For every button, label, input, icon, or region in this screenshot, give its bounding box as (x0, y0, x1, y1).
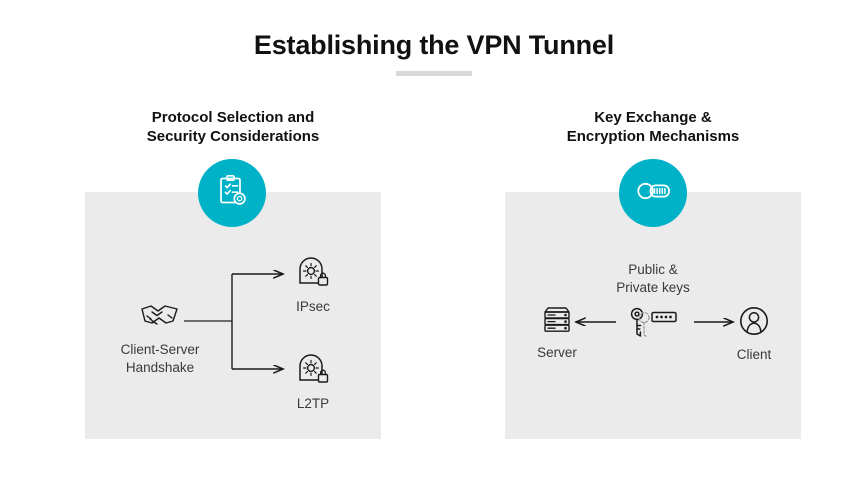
keys-caption: Public & Private keys (553, 261, 753, 297)
node-handshake: Client-Server Handshake (95, 300, 225, 377)
node-client: Client (722, 305, 786, 364)
page-title: Establishing the VPN Tunnel (0, 30, 868, 61)
user-circle-icon (738, 305, 770, 342)
section-heading-key-exchange: Key Exchange & Encryption Mechanisms (505, 108, 801, 146)
node-server-label: Server (537, 344, 577, 362)
clipboard-certificate-icon (214, 173, 250, 214)
secure-tunnel-lock-icon (296, 352, 330, 391)
title-underline-rule (396, 71, 472, 76)
section-heading-protocol-selection: Protocol Selection and Security Consider… (85, 108, 381, 146)
secure-tunnel-lock-icon (296, 255, 330, 294)
handshake-icon (138, 300, 182, 337)
keys-password-icon (626, 305, 682, 344)
key-icon (633, 171, 673, 216)
node-server: Server (524, 305, 590, 362)
badge-protocol-selection (198, 159, 266, 227)
node-client-label: Client (737, 346, 772, 364)
node-handshake-label: Client-Server Handshake (121, 341, 200, 377)
node-keys (620, 305, 688, 348)
node-ipsec: IPsec (283, 255, 343, 316)
node-l2tp-label: L2TP (297, 395, 329, 413)
server-rack-icon (540, 305, 574, 340)
node-l2tp: L2TP (283, 352, 343, 413)
badge-key-exchange (619, 159, 687, 227)
node-ipsec-label: IPsec (296, 298, 330, 316)
